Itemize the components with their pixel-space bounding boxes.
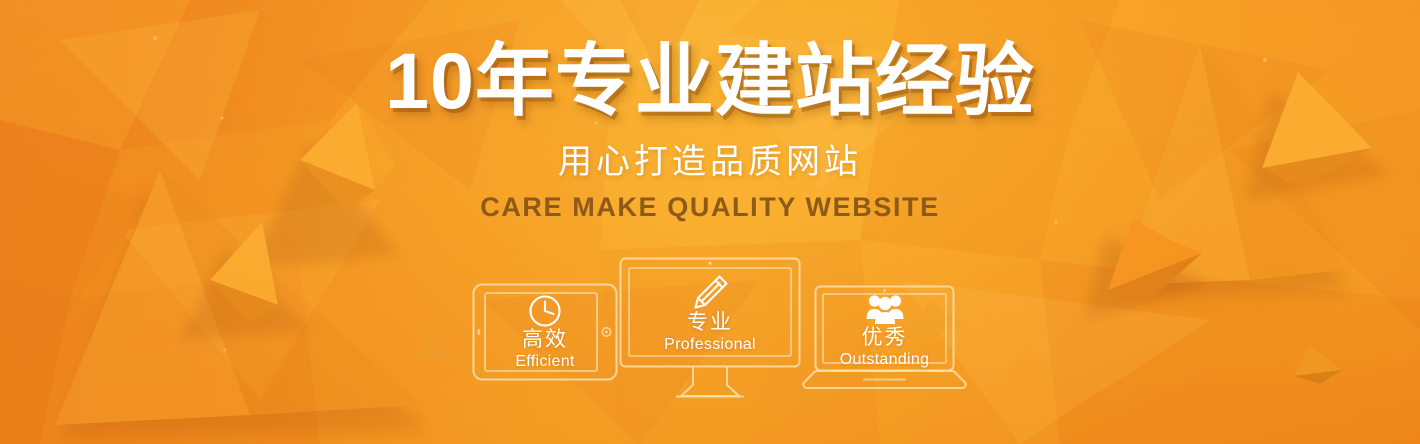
banner-content: 10年专业建站经验 用心打造品质网站 CARE MAKE QUALITY WEB… (0, 0, 1420, 444)
subtitle-english: CARE MAKE QUALITY WEBSITE (480, 194, 940, 221)
hero-banner: 10年专业建站经验 用心打造品质网站 CARE MAKE QUALITY WEB… (0, 0, 1420, 444)
page-title: 10年专业建站经验 (385, 41, 1035, 120)
subtitle-chinese: 用心打造品质网站 (558, 145, 862, 179)
